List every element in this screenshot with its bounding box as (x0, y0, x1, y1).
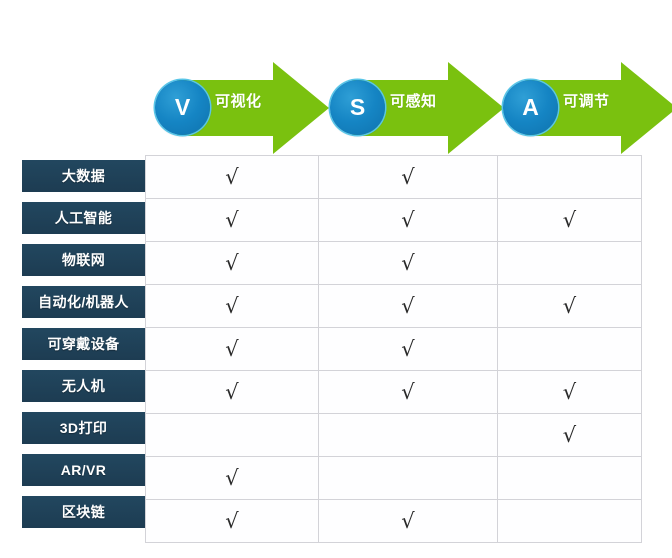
matrix-cell: √ (319, 328, 498, 371)
arrow-badge-letter: V (175, 96, 190, 119)
arrow-badge-circle: V (155, 80, 210, 135)
matrix-cell (498, 156, 642, 199)
table-row: √√√ (146, 199, 642, 242)
matrix-cell: √ (319, 242, 498, 285)
matrix-cell (319, 457, 498, 500)
row-label-chip: 物联网 (22, 239, 145, 281)
row-label-text: 大数据 (22, 160, 145, 192)
check-icon: √ (401, 253, 414, 274)
check-icon: √ (401, 382, 414, 403)
matrix-cell (498, 457, 642, 500)
arrow-badge-circle: S (330, 80, 385, 135)
check-icon: √ (563, 425, 576, 446)
matrix-cell: √ (146, 457, 319, 500)
matrix-cell: √ (146, 328, 319, 371)
matrix-cell: √ (146, 242, 319, 285)
arrow-badge-letter: A (522, 96, 539, 119)
table-row: √√ (146, 500, 642, 543)
matrix-cell: √ (319, 156, 498, 199)
matrix-cell: √ (319, 285, 498, 328)
row-label-text: 区块链 (22, 496, 145, 528)
row-label-chip: 人工智能 (22, 197, 145, 239)
matrix-cell (498, 500, 642, 543)
check-icon: √ (225, 253, 238, 274)
check-icon: √ (563, 382, 576, 403)
check-icon: √ (225, 167, 238, 188)
check-icon: √ (225, 339, 238, 360)
matrix-cell (146, 414, 319, 457)
matrix-cell: √ (498, 285, 642, 328)
check-icon: √ (401, 511, 414, 532)
matrix-cell: √ (498, 414, 642, 457)
table-row: √√√ (146, 371, 642, 414)
row-label-text: AR/VR (22, 454, 145, 486)
row-label-text: 自动化/机器人 (22, 286, 145, 318)
matrix-cell (319, 414, 498, 457)
capability-matrix-infographic: 可视化V可感知S可调节A 大数据人工智能物联网自动化/机器人可穿戴设备无人机3D… (0, 0, 672, 558)
check-icon: √ (225, 468, 238, 489)
check-icon: √ (401, 167, 414, 188)
arrow-label: 可视化 (215, 94, 262, 109)
arrow-badge-circle: A (503, 80, 558, 135)
check-icon: √ (401, 210, 414, 231)
capability-matrix-table: √√√√√√√√√√√√√√√√√√√ (145, 155, 642, 543)
row-label-chip: 可穿戴设备 (22, 323, 145, 365)
matrix-cell: √ (146, 500, 319, 543)
check-icon: √ (401, 296, 414, 317)
matrix-cell: √ (146, 371, 319, 414)
matrix-body: √√√√√√√√√√√√√√√√√√√ (146, 156, 642, 543)
row-label-text: 人工智能 (22, 202, 145, 234)
row-label-text: 无人机 (22, 370, 145, 402)
matrix-cell (498, 328, 642, 371)
check-icon: √ (225, 382, 238, 403)
row-label-chip: 3D打印 (22, 407, 145, 449)
table-row: √√√ (146, 285, 642, 328)
matrix-cell (498, 242, 642, 285)
matrix-cell: √ (319, 199, 498, 242)
check-icon: √ (225, 210, 238, 231)
check-icon: √ (225, 296, 238, 317)
matrix-cell: √ (498, 371, 642, 414)
row-label-text: 物联网 (22, 244, 145, 276)
matrix-cell: √ (146, 199, 319, 242)
table-row: √ (146, 457, 642, 500)
table-row: √ (146, 414, 642, 457)
table-row: √√ (146, 156, 642, 199)
table-row: √√ (146, 242, 642, 285)
row-label-chip: 大数据 (22, 155, 145, 197)
check-icon: √ (563, 210, 576, 231)
row-label-chip: 自动化/机器人 (22, 281, 145, 323)
matrix-cell: √ (146, 285, 319, 328)
matrix-cell: √ (319, 500, 498, 543)
row-label-chip: 无人机 (22, 365, 145, 407)
row-label-text: 可穿戴设备 (22, 328, 145, 360)
row-label-text: 3D打印 (22, 412, 145, 444)
arrow-header-band: 可视化V可感知S可调节A (0, 58, 672, 158)
check-icon: √ (225, 511, 238, 532)
arrow-badge-letter: S (350, 96, 365, 119)
matrix-cell: √ (498, 199, 642, 242)
table-row: √√ (146, 328, 642, 371)
arrow-label: 可感知 (390, 94, 437, 109)
row-label-chip: 区块链 (22, 491, 145, 533)
check-icon: √ (563, 296, 576, 317)
check-icon: √ (401, 339, 414, 360)
matrix-cell: √ (319, 371, 498, 414)
row-label-chip: AR/VR (22, 449, 145, 491)
matrix-cell: √ (146, 156, 319, 199)
row-label-column: 大数据人工智能物联网自动化/机器人可穿戴设备无人机3D打印AR/VR区块链 (22, 155, 145, 533)
arrow-label: 可调节 (563, 94, 610, 109)
